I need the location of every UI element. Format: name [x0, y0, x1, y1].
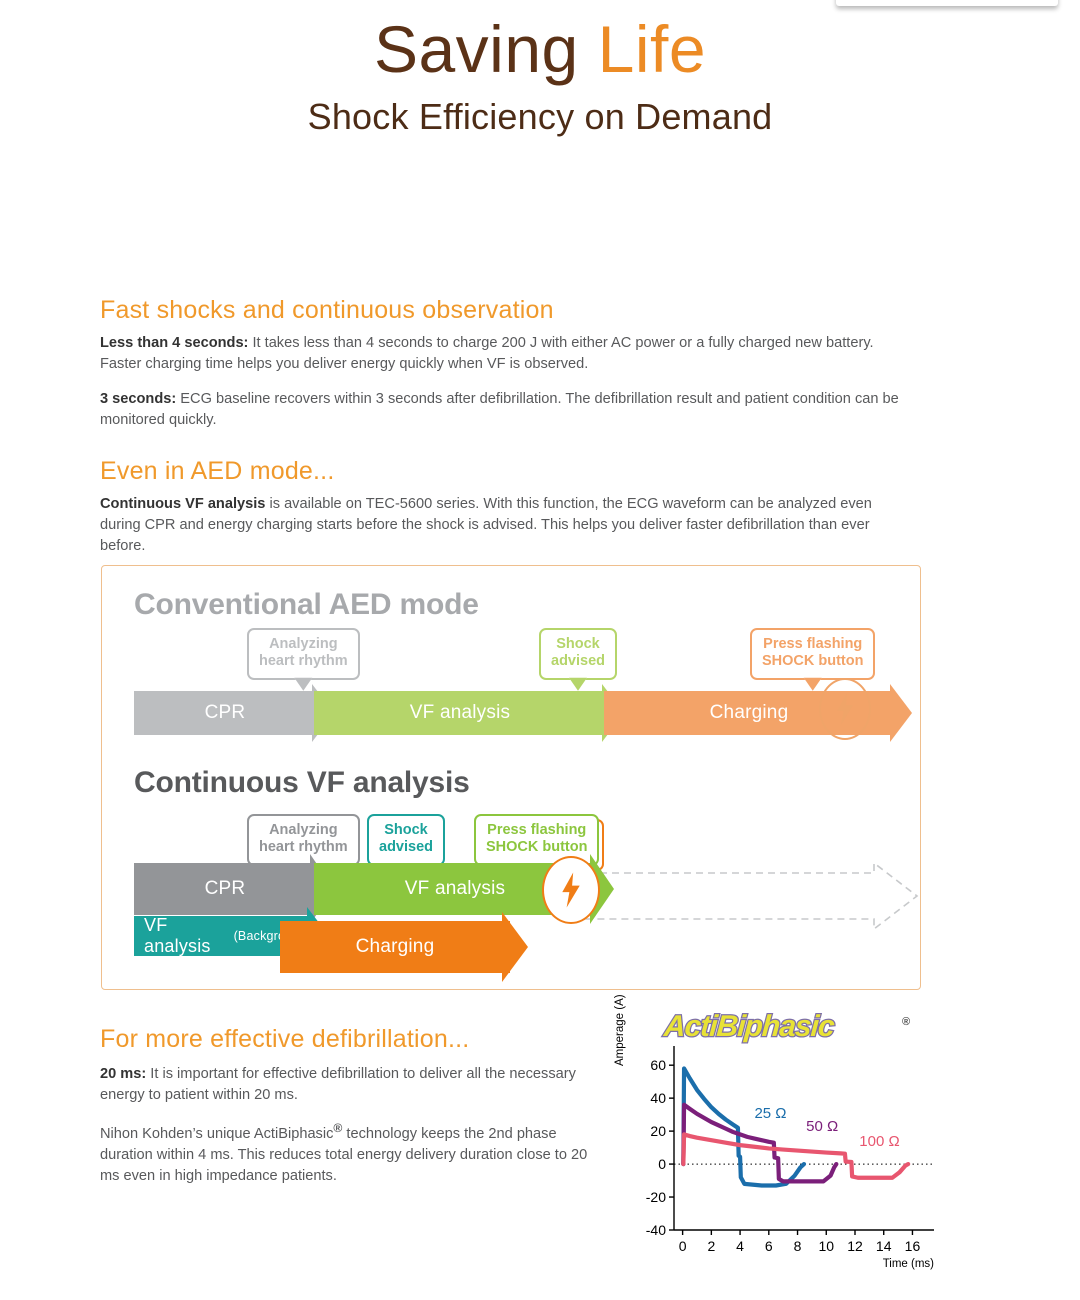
callout-line-1: Shock: [379, 822, 433, 839]
callout-line-1: Press flashing: [762, 636, 863, 653]
paragraph-actibiphasic-technology: Nihon Kohden’s unique ActiBiphasic® tech…: [100, 1120, 600, 1187]
callout-press-flashing-shock-button-conventional: Press flashing SHOCK button: [750, 628, 875, 680]
arrow-label-vf-analysis: VF analysis: [314, 691, 606, 735]
actibiphasic-logo-registered-mark: ®: [902, 1016, 910, 1028]
page-subtitle: Shock Efficiency on Demand: [0, 96, 1080, 138]
callout-tail: [569, 678, 587, 691]
diagram-title-continuous: Continuous VF analysis: [134, 766, 470, 800]
chart-plot-area: -40-200204060024681012141625 Ω50 Ω100 Ω: [612, 1008, 942, 1270]
arrow-label-charging: Charging: [280, 921, 510, 973]
page-title-word-life: Life: [598, 12, 706, 86]
section-heading-aed-mode: Even in AED mode...: [100, 457, 905, 486]
svg-text:60: 60: [650, 1057, 666, 1073]
section-fast-shocks: Fast shocks and continuous observation L…: [100, 296, 905, 446]
callout-shock-advised-conventional: Shock advised: [539, 628, 617, 680]
callout-line-2: heart rhythm: [259, 839, 348, 856]
actibiphasic-waveform-chart: ActiBiphasic ® Amperage (A) Time (ms) -4…: [612, 1008, 942, 1270]
page-corner-tab: [836, 0, 1058, 6]
svg-text:-20: -20: [646, 1189, 666, 1205]
paragraph-less-than-4-seconds: Less than 4 seconds: It takes less than …: [100, 333, 905, 375]
svg-text:0: 0: [679, 1238, 687, 1254]
section-aed-mode: Even in AED mode... Continuous VF analys…: [100, 457, 905, 571]
svg-text:16: 16: [905, 1238, 921, 1254]
paragraph-20-ms: 20 ms: It is important for effective def…: [100, 1064, 600, 1106]
callout-line-2: SHOCK button: [486, 839, 587, 856]
body-actibiphasic-a: Nihon Kohden’s unique ActiBiphasic: [100, 1126, 333, 1142]
arrow-label-cpr: CPR: [134, 691, 316, 735]
body-3-seconds: ECG baseline recovers within 3 seconds a…: [100, 391, 899, 428]
paragraph-3-seconds: 3 seconds: ECG baseline recovers within …: [100, 389, 905, 431]
page-title: Saving Life: [0, 16, 1080, 82]
lead-in-continuous-vf-analysis: Continuous VF analysis: [100, 496, 265, 512]
section-effective-defibrillation: For more effective defibrillation... 20 …: [100, 1025, 600, 1202]
chart-x-axis-label: Time (ms): [883, 1258, 934, 1270]
arrow-cpr-conventional: CPR: [134, 691, 334, 735]
callout-analyzing-heart-rhythm-continuous: Analyzing heart rhythm: [247, 814, 360, 866]
callout-shock-advised-continuous: Shock advised: [367, 814, 445, 866]
arrow-vf-analysis-conventional: VF analysis: [314, 691, 624, 735]
lead-in-20-ms: 20 ms:: [100, 1066, 146, 1082]
svg-text:14: 14: [876, 1238, 892, 1254]
callout-line-1: Shock: [551, 636, 605, 653]
svg-text:8: 8: [794, 1238, 802, 1254]
callout-line-2: SHOCK button: [762, 653, 863, 670]
paragraph-continuous-vf-analysis: Continuous VF analysis is available on T…: [100, 494, 905, 557]
arrow-label-main: VF analysis: [144, 915, 234, 957]
time-saved-ghost-arrow: [574, 861, 919, 931]
callout-line-2: advised: [379, 839, 433, 856]
diagram-title-conventional: Conventional AED mode: [134, 588, 479, 622]
chart-y-axis-label: Amperage (A): [614, 994, 626, 1066]
callout-line-2: advised: [551, 653, 605, 670]
arrow-label-cpr: CPR: [134, 863, 316, 915]
body-20-ms: It is important for effective defibrilla…: [100, 1066, 576, 1103]
page-title-word-saving: Saving: [374, 12, 579, 86]
svg-text:6: 6: [765, 1238, 773, 1254]
lead-in-less-than-4-seconds: Less than 4 seconds:: [100, 335, 248, 351]
svg-text:50 Ω: 50 Ω: [806, 1118, 838, 1135]
svg-text:0: 0: [658, 1156, 666, 1172]
svg-text:-40: -40: [646, 1222, 666, 1238]
svg-text:12: 12: [847, 1238, 863, 1254]
callout-line-1: Press flashing: [486, 822, 587, 839]
svg-text:2: 2: [707, 1238, 715, 1254]
arrow-cpr-continuous: CPR: [134, 863, 334, 915]
arrow-charging-continuous: Charging: [280, 921, 528, 973]
callout-line-1: Analyzing: [259, 636, 348, 653]
svg-text:100 Ω: 100 Ω: [859, 1133, 899, 1150]
lightning-bolt-icon-continuous: [542, 856, 600, 924]
lead-in-3-seconds: 3 seconds:: [100, 391, 176, 407]
callout-analyzing-heart-rhythm-conventional: Analyzing heart rhythm: [247, 628, 360, 680]
svg-text:25 Ω: 25 Ω: [754, 1105, 786, 1122]
actibiphasic-logo: ActiBiphasic: [663, 1010, 835, 1044]
aed-mode-comparison-diagram: Conventional AED mode Analyzing heart rh…: [101, 565, 921, 990]
section-heading-effective-defibrillation: For more effective defibrillation...: [100, 1025, 600, 1054]
lightning-bolt-icon-conventional: [819, 678, 871, 740]
callout-tail: [804, 678, 822, 691]
callout-line-2: heart rhythm: [259, 653, 348, 670]
section-heading-fast-shocks: Fast shocks and continuous observation: [100, 296, 905, 325]
svg-text:4: 4: [736, 1238, 744, 1254]
svg-text:40: 40: [650, 1090, 666, 1106]
callout-line-1: Analyzing: [259, 822, 348, 839]
lightning-bolt-glyph: [559, 871, 583, 909]
callout-tail: [294, 678, 312, 691]
svg-text:10: 10: [818, 1238, 834, 1254]
svg-text:20: 20: [650, 1123, 666, 1139]
page-title-block: Saving Life Shock Efficiency on Demand: [0, 16, 1080, 138]
lightning-bolt-glyph: [834, 692, 856, 726]
